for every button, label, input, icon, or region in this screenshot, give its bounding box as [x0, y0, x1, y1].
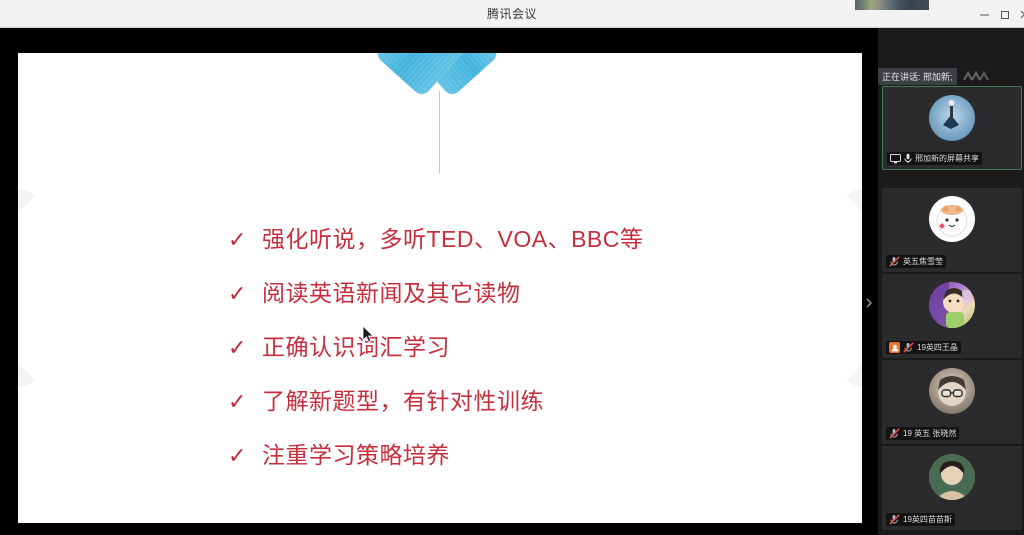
- check-icon: ✓: [228, 335, 262, 361]
- check-icon: ✓: [228, 443, 262, 469]
- close-button[interactable]: [1014, 4, 1024, 24]
- microphone-muted-icon: [889, 256, 900, 267]
- window-title-bar: 腾讯会议: [0, 0, 1024, 28]
- bullet-item: ✓ 了解新题型，有针对性训练: [228, 385, 828, 419]
- avatar: [929, 282, 975, 328]
- minimize-icon: [979, 9, 990, 20]
- bullet-item: ✓ 强化听说，多听TED、VOA、BBC等: [228, 223, 828, 257]
- microphone-muted-icon: [889, 514, 900, 525]
- participant-footer: 19英四王晶: [886, 341, 961, 354]
- watermark-chevron-left: [18, 182, 127, 394]
- participant-tile[interactable]: 英五焦雪莹: [882, 188, 1022, 272]
- bullet-item: ✓ 注重学习策略培养: [228, 439, 828, 473]
- avatar-artwork-icon: [929, 95, 975, 141]
- avatar: [929, 454, 975, 500]
- participant-footer: 邢加新的屏幕共享: [887, 152, 982, 165]
- monitor-icon: [890, 154, 901, 164]
- bullet-text: 了解新题型，有针对性训练: [262, 385, 544, 417]
- panel-collapse-button[interactable]: [862, 286, 876, 320]
- microphone-muted-icon: [903, 342, 914, 353]
- slide-banner-graphic: [280, 53, 600, 171]
- participant-tile[interactable]: 19英四苗苗斯: [882, 446, 1022, 530]
- chevron-right-icon: [865, 297, 873, 309]
- screen-share-preview-strip: [855, 0, 929, 10]
- participant-name: 邢加新的屏幕共享: [915, 153, 979, 164]
- participant-name: 英五焦雪莹: [903, 256, 943, 267]
- participant-name: 19 英五 张晓然: [903, 428, 956, 439]
- participant-tile[interactable]: 邢加新的屏幕共享: [882, 86, 1022, 170]
- participant-footer: 19英四苗苗斯: [886, 513, 955, 526]
- bullet-item: ✓ 阅读英语新闻及其它读物: [228, 277, 828, 311]
- participant-name: 19英四王晶: [917, 342, 958, 353]
- minimize-button[interactable]: [974, 4, 994, 24]
- bullet-item: ✓ 正确认识词汇学习: [228, 331, 828, 365]
- avatar: [929, 368, 975, 414]
- participant-footer: 19 英五 张晓然: [886, 427, 959, 440]
- active-speaker-indicator: 正在讲话: 邢加新;: [878, 66, 1024, 86]
- avatar: [929, 196, 975, 242]
- shared-screen-stage[interactable]: ✓ 强化听说，多听TED、VOA、BBC等 ✓ 阅读英语新闻及其它读物 ✓ 正确…: [0, 28, 878, 535]
- bullet-text: 阅读英语新闻及其它读物: [262, 277, 521, 309]
- sound-waves-icon: [963, 71, 989, 82]
- bullet-list: ✓ 强化听说，多听TED、VOA、BBC等 ✓ 阅读英语新闻及其它读物 ✓ 正确…: [228, 223, 828, 493]
- avatar: [929, 95, 975, 141]
- participant-panel: 正在讲话: 邢加新;: [878, 28, 1024, 535]
- bullet-text: 正确认识词汇学习: [262, 331, 450, 363]
- active-speaker-label: 正在讲话: 邢加新;: [878, 68, 957, 85]
- bullet-text: 注重学习策略培养: [262, 439, 450, 471]
- check-icon: ✓: [228, 227, 262, 253]
- check-icon: ✓: [228, 281, 262, 307]
- mouse-cursor: [363, 326, 375, 344]
- microphone-muted-icon: [889, 428, 900, 439]
- bullet-text: 强化听说，多听TED、VOA、BBC等: [262, 223, 643, 255]
- check-icon: ✓: [228, 389, 262, 415]
- presentation-slide: ✓ 强化听说，多听TED、VOA、BBC等 ✓ 阅读英语新闻及其它读物 ✓ 正确…: [18, 53, 862, 523]
- microphone-icon: [904, 153, 912, 164]
- participant-tile[interactable]: 19英四王晶: [882, 274, 1022, 358]
- maximize-button[interactable]: [995, 4, 1015, 24]
- participant-name: 19英四苗苗斯: [903, 514, 952, 525]
- participant-footer: 英五焦雪莹: [886, 255, 946, 268]
- host-icon: [889, 342, 900, 353]
- close-icon: [1019, 9, 1024, 20]
- avatar-artwork-icon: [929, 454, 975, 500]
- banner-seam-line: [439, 91, 440, 173]
- avatar-artwork-icon: [929, 196, 975, 242]
- avatar-artwork-icon: [929, 282, 975, 328]
- participant-tile[interactable]: 19 英五 张晓然: [882, 360, 1022, 444]
- avatar-artwork-icon: [929, 368, 975, 414]
- maximize-icon: [1000, 9, 1011, 20]
